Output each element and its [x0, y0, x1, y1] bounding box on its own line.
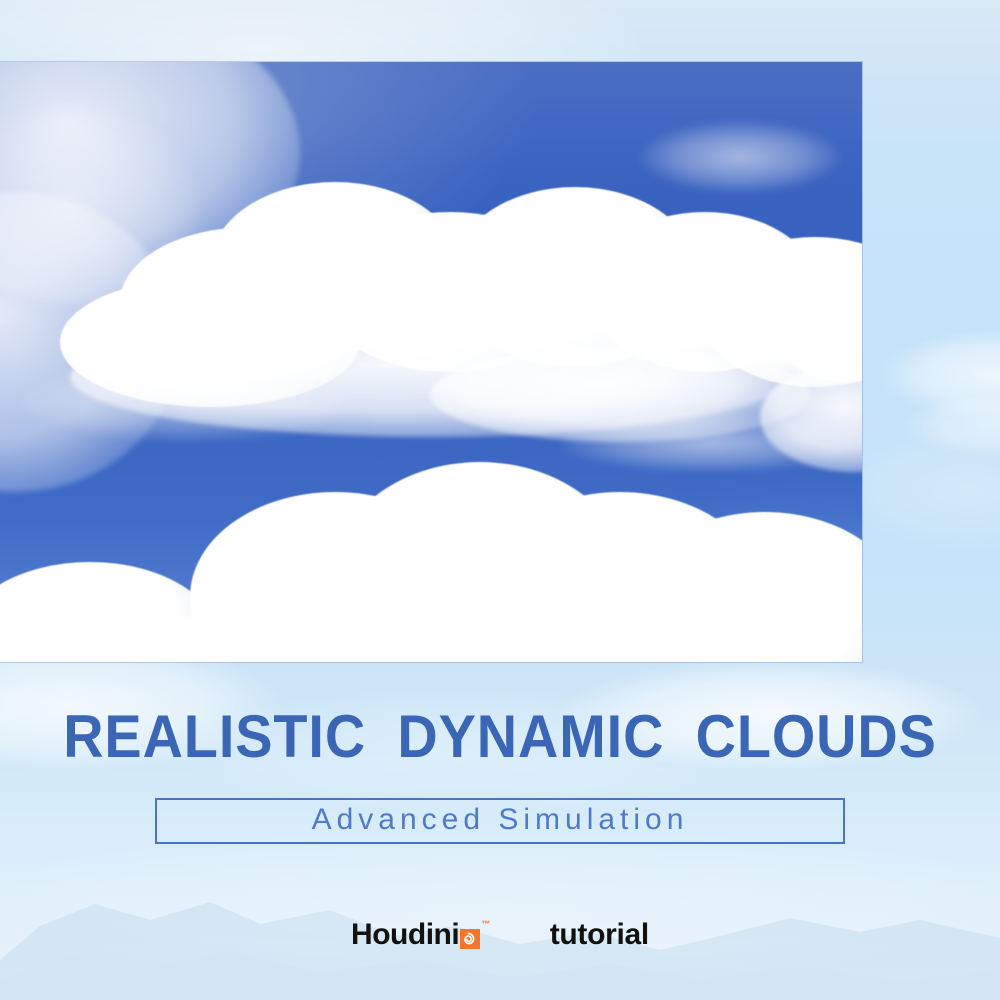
page-title: REALISTIC DYNAMIC CLOUDS	[35, 706, 965, 768]
background-wisp-right-upper	[880, 330, 1000, 420]
footer-branding: Houdini ™ tutorial	[0, 918, 1000, 952]
photo-cloud-band-wisp-left	[20, 362, 350, 442]
trademark-symbol: ™	[481, 920, 490, 929]
poster-canvas: REALISTIC DYNAMIC CLOUDS Advanced Simula…	[0, 0, 1000, 1000]
background-haze-bottom	[0, 830, 1000, 980]
tutorial-label: tutorial	[550, 918, 649, 952]
subtitle-text: Advanced Simulation	[312, 803, 689, 837]
background-wisp-right-lower	[900, 395, 1000, 455]
houdini-logo: Houdini ™	[351, 920, 490, 950]
houdini-wordmark: Houdini	[351, 920, 459, 950]
cloud-photo	[0, 62, 862, 662]
houdini-spiral-icon	[460, 929, 480, 949]
subtitle-box: Advanced Simulation	[155, 798, 845, 844]
photo-cloud-top-right-wisp	[640, 122, 840, 192]
